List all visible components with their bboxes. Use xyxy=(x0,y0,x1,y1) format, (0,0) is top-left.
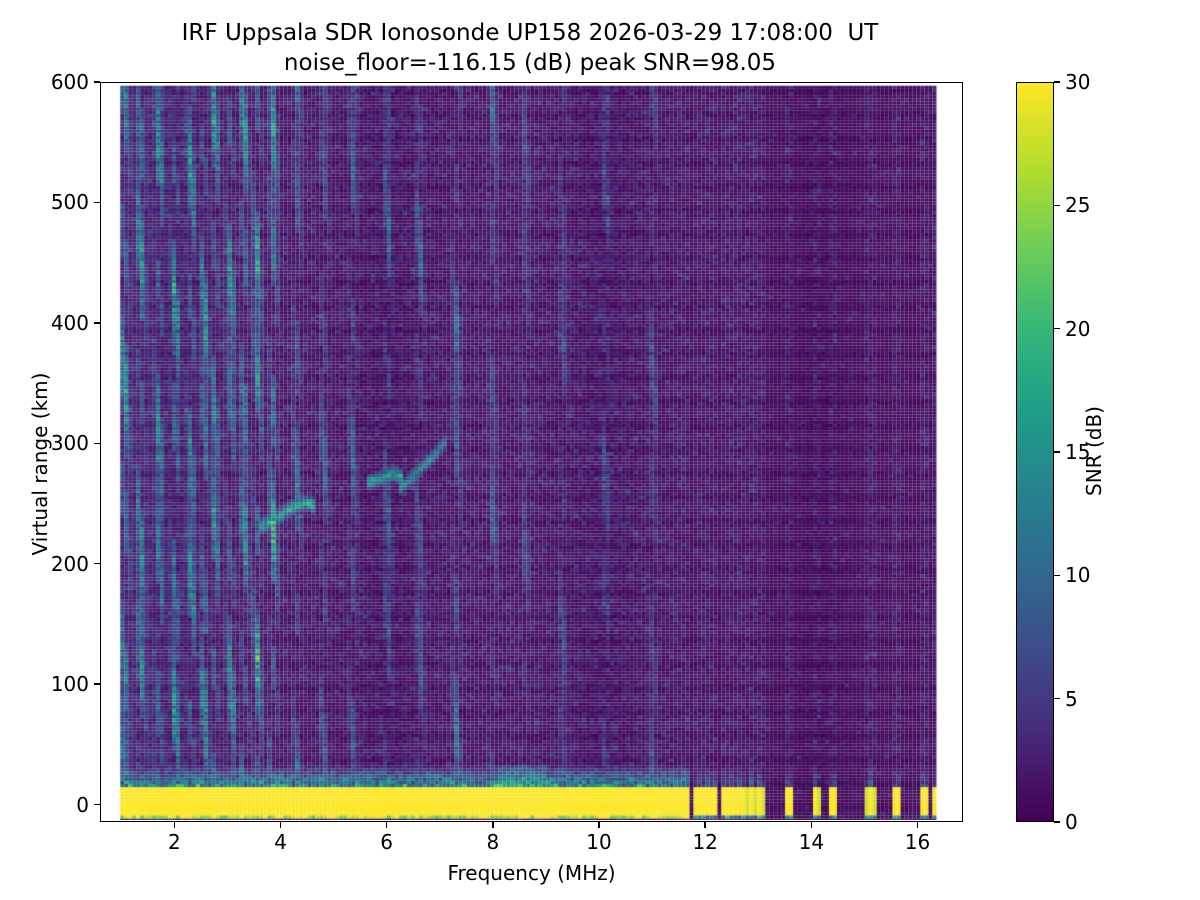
colorbar-tick-label: 25 xyxy=(1065,192,1090,218)
colorbar-label: SNR (dB) xyxy=(1082,331,1106,571)
x-axis: Frequency (MHz) 246810121416 xyxy=(100,822,963,900)
y-tick-label: 200 xyxy=(51,551,89,577)
figure-title: IRF Uppsala SDR Ionosonde UP158 2026-03-… xyxy=(0,18,1060,78)
colorbar-tick-mark xyxy=(1054,328,1060,329)
x-tick-mark xyxy=(811,822,812,828)
y-tick-mark xyxy=(94,443,100,444)
x-tick-mark xyxy=(598,822,599,828)
y-tick-mark xyxy=(94,804,100,805)
y-tick-label: 500 xyxy=(51,189,89,215)
x-tick-label: 2 xyxy=(144,830,204,854)
x-tick-mark xyxy=(492,822,493,828)
colorbar-tick-mark xyxy=(1054,821,1060,822)
colorbar-gradient xyxy=(1017,83,1053,821)
x-axis-label: Frequency (MHz) xyxy=(100,861,963,885)
y-tick-mark xyxy=(94,683,100,684)
y-tick-mark xyxy=(94,563,100,564)
y-tick-label: 100 xyxy=(51,671,89,697)
y-tick-label: 0 xyxy=(76,792,89,818)
ionogram-heatmap xyxy=(101,83,961,820)
x-tick-mark xyxy=(174,822,175,828)
x-tick-mark xyxy=(704,822,705,828)
colorbar-tick-mark xyxy=(1054,81,1060,82)
colorbar-tick-mark xyxy=(1054,205,1060,206)
x-tick-label: 8 xyxy=(463,830,523,854)
ionogram-figure: IRF Uppsala SDR Ionosonde UP158 2026-03-… xyxy=(0,0,1200,900)
x-tick-label: 10 xyxy=(569,830,629,854)
colorbar-tick-label: 0 xyxy=(1065,809,1078,835)
title-line-1: IRF Uppsala SDR Ionosonde UP158 2026-03-… xyxy=(0,18,1060,48)
colorbar-axis: 051015202530 xyxy=(1054,82,1194,822)
y-tick-label: 600 xyxy=(51,69,89,95)
x-tick-mark xyxy=(917,822,918,828)
x-tick-label: 6 xyxy=(357,830,417,854)
colorbar xyxy=(1016,82,1054,822)
x-tick-label: 16 xyxy=(888,830,948,854)
ionogram-plot-area xyxy=(100,82,963,822)
colorbar-tick-mark xyxy=(1054,698,1060,699)
title-line-2: noise_floor=-116.15 (dB) peak SNR=98.05 xyxy=(0,48,1060,78)
colorbar-tick-label: 30 xyxy=(1065,69,1090,95)
colorbar-tick-label: 5 xyxy=(1065,686,1078,712)
y-tick-mark xyxy=(94,322,100,323)
y-tick-label: 300 xyxy=(51,430,89,456)
y-axis-label: Virtual range (km) xyxy=(28,94,52,834)
y-axis: Virtual range (km) 0100200300400500600 xyxy=(0,82,100,822)
y-tick-mark xyxy=(94,81,100,82)
x-tick-label: 14 xyxy=(781,830,841,854)
colorbar-tick-mark xyxy=(1054,575,1060,576)
x-tick-mark xyxy=(280,822,281,828)
colorbar-tick-mark xyxy=(1054,451,1060,452)
x-tick-label: 4 xyxy=(250,830,310,854)
x-tick-mark xyxy=(386,822,387,828)
y-tick-mark xyxy=(94,202,100,203)
y-tick-label: 400 xyxy=(51,310,89,336)
x-tick-label: 12 xyxy=(675,830,735,854)
